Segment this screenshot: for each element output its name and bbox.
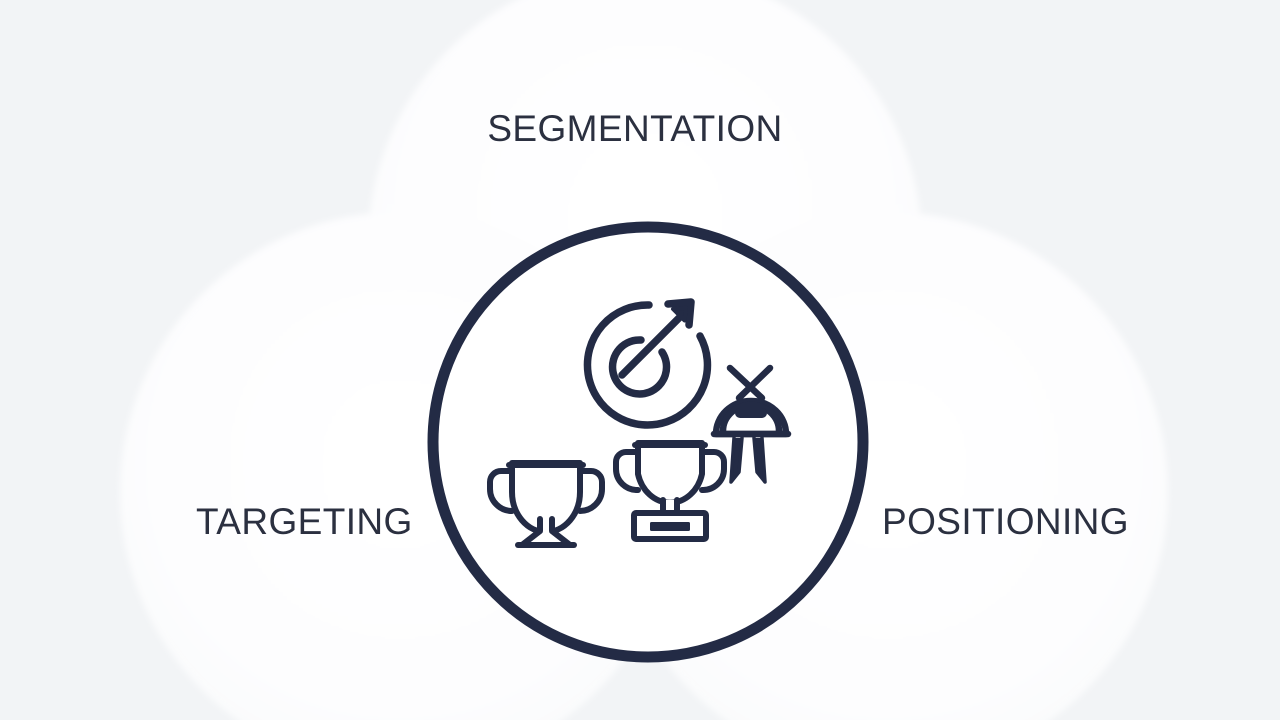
diagram-canvas: SEGMENTATION TARGETING POSITIONING <box>0 0 1280 720</box>
label-segmentation: SEGMENTATION <box>0 110 1280 147</box>
label-positioning: POSITIONING <box>882 503 1129 540</box>
label-targeting: TARGETING <box>196 503 413 540</box>
